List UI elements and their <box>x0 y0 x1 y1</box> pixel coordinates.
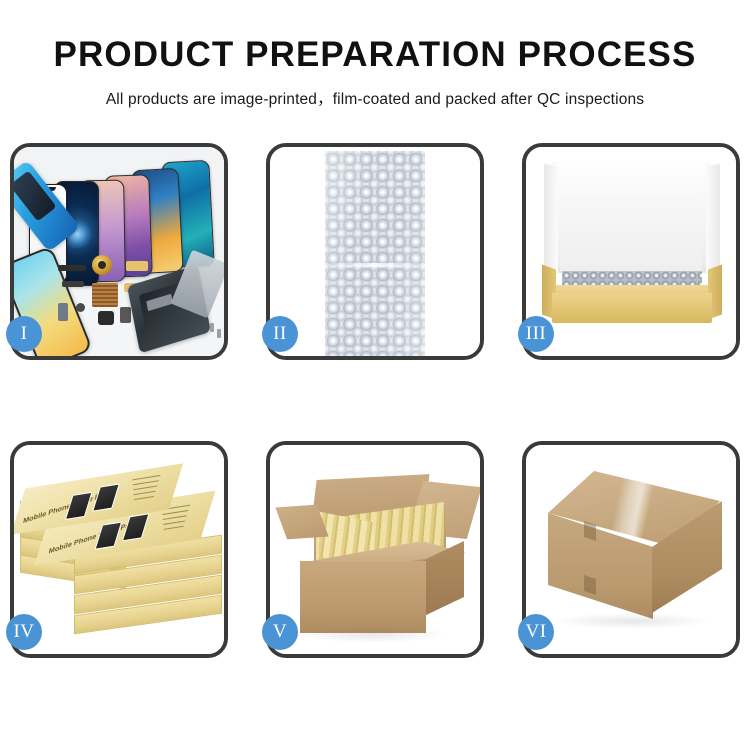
page-subtitle: All products are image-printed，film-coat… <box>0 87 750 109</box>
process-step-grid: I II III <box>10 143 740 658</box>
speaker-mesh-part <box>58 265 86 271</box>
screw-a <box>210 323 214 332</box>
step-image-4: Mobile Phone Spare Parts Mobile Phone Sp… <box>14 445 224 654</box>
page-title: PRODUCT PREPARATION PROCESS <box>0 36 750 75</box>
carton-seam-lower <box>584 575 596 595</box>
box-screen-image-2a <box>94 521 122 549</box>
foam-insert <box>560 199 702 271</box>
step-badge-3: III <box>518 316 554 352</box>
carton-shadow <box>298 625 448 643</box>
step-badge-4: IV <box>6 614 42 650</box>
box-stack: Mobile Phone Spare Parts Mobile Phone Sp… <box>14 445 224 654</box>
screw-b <box>217 329 221 338</box>
carton-front-panel <box>300 561 426 633</box>
box-text-line-2d <box>163 520 185 525</box>
chip-array-part <box>92 283 118 307</box>
carton-seam-upper <box>584 521 596 541</box>
step-image-1 <box>14 147 224 356</box>
sim-tray-part <box>58 303 68 321</box>
step-image-5 <box>270 445 480 654</box>
step-badge-5: V <box>262 614 298 650</box>
box-text-line-1e <box>134 496 154 500</box>
box-screen-image-2b <box>122 513 150 541</box>
box-text-line-2c <box>163 515 187 520</box>
box-screen-image-1a <box>65 492 93 520</box>
bubble-wrap-sheet <box>325 151 425 356</box>
step-panel-2[interactable]: II <box>266 143 484 360</box>
lid-flap-left <box>544 164 558 275</box>
step-image-6 <box>526 445 736 654</box>
button-flex-part <box>62 281 84 287</box>
inner-box-front <box>552 293 712 323</box>
camera-module-part <box>98 311 114 325</box>
step-panel-5[interactable]: V <box>266 441 484 658</box>
step-image-3 <box>526 147 736 356</box>
step-panel-3[interactable]: III <box>522 143 740 360</box>
small-screw-part-a <box>76 303 85 312</box>
box-text-line-1d <box>133 491 155 496</box>
step-badge-2: II <box>262 316 298 352</box>
box-text-line-1c <box>133 485 157 490</box>
page-header: PRODUCT PREPARATION PROCESS All products… <box>0 0 750 109</box>
bubble-wrap-sheen <box>325 151 425 356</box>
battery-connector-part <box>120 307 131 323</box>
vibration-coil-part <box>92 255 112 275</box>
sealed-carton-shadow <box>552 613 712 629</box>
step-image-2 <box>270 147 480 356</box>
lid-flap-right <box>706 164 720 275</box>
step-badge-6: VI <box>518 614 554 650</box>
box-screen-image-1b <box>92 483 120 511</box>
flex-cable-part-a <box>126 261 148 271</box>
step-panel-6[interactable]: VI <box>522 441 740 658</box>
step-panel-4[interactable]: Mobile Phone Spare Parts Mobile Phone Sp… <box>10 441 228 658</box>
box-text-line-2e <box>163 526 183 530</box>
step-badge-1: I <box>6 316 42 352</box>
step-panel-1[interactable]: I <box>10 143 228 360</box>
